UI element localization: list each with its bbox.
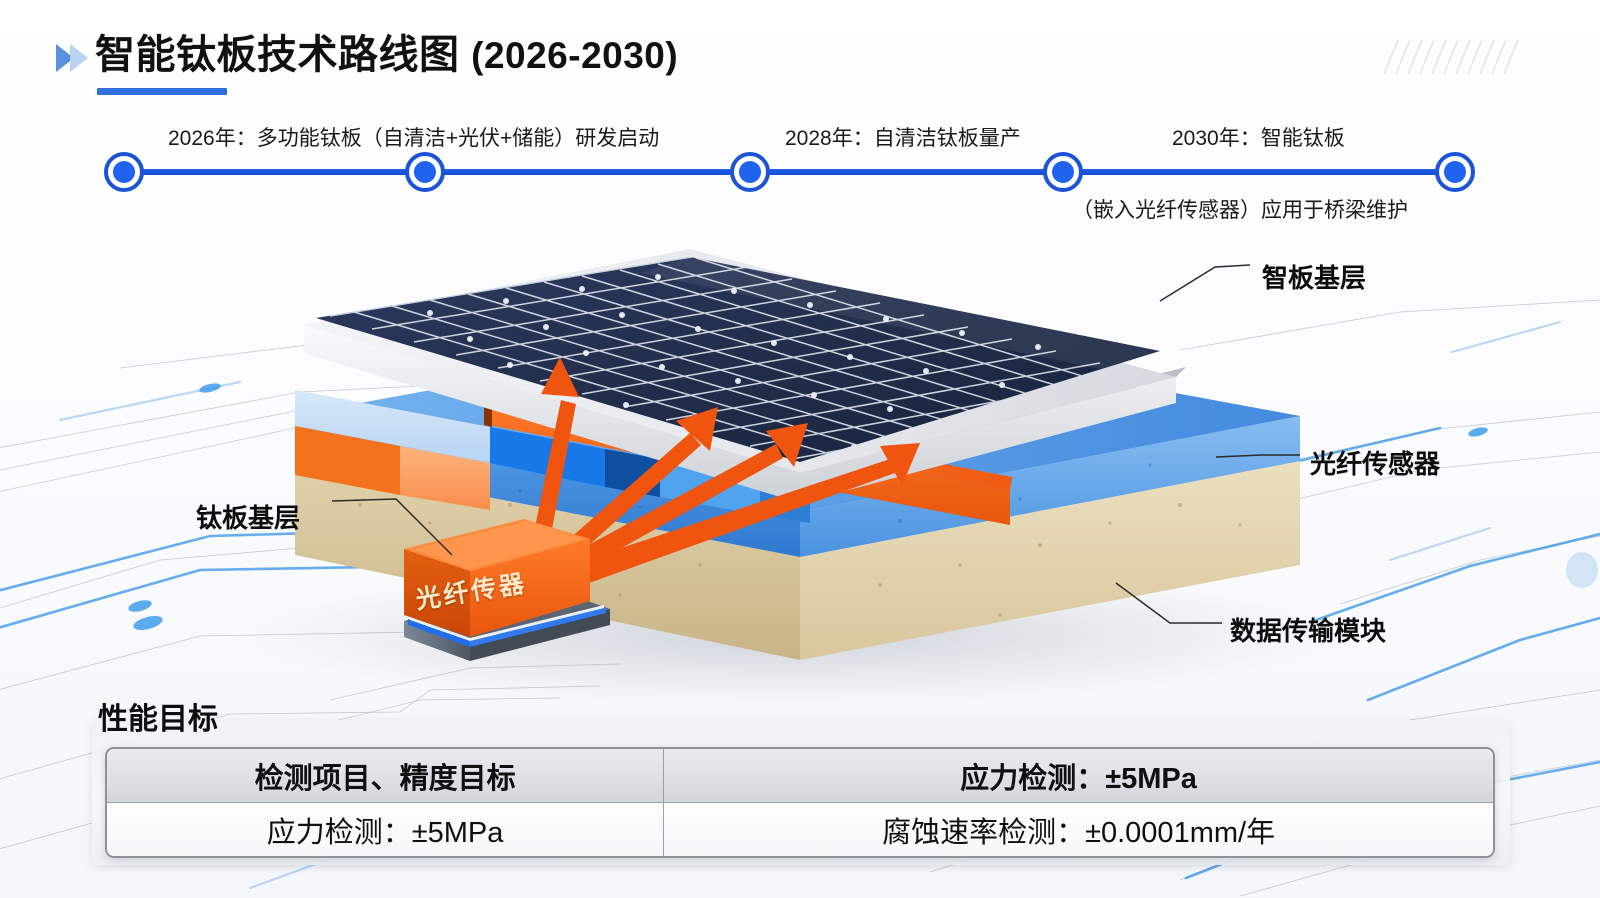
table-cell-0-1: 腐蚀速率检测：±0.0001mm/年 [664,803,1493,856]
timeline-label-2030-sub: （嵌入光纤传感器）应用于桥梁维护 [1072,194,1408,224]
callout-data-transfer-module: 数据传输模块 [1230,611,1386,648]
timeline-label-2030: 2030年：智能钛板 [1172,122,1345,152]
timeline-node-2[interactable] [405,152,445,192]
callout-fiber-optic-sensor: 光纤传感器 [1310,444,1440,481]
performance-table: 检测项目、精度目标 应力检测：±5MPa 应力检测：±5MPa 腐蚀速率检测：±… [105,747,1495,858]
timeline-node-1[interactable] [104,152,144,192]
page-title-main: 智能钛板技术路线图 [95,33,460,77]
performance-section-title: 性能目标 [98,694,218,738]
timeline-axis-line [124,169,1456,175]
table-header-cell-1: 应力检测：±5MPa [664,749,1493,803]
timeline-label-2028: 2028年：自清洁钛板量产 [785,122,1021,152]
table-cell-0-0: 应力检测：±5MPa [107,803,664,856]
timeline-node-3[interactable] [730,152,770,192]
title-underline [97,88,227,95]
roadmap-timeline: 2026年：多功能钛板（自清洁+光伏+储能）研发启动 2028年：自清洁钛板量产… [0,112,1600,222]
timeline-label-2026: 2026年：多功能钛板（自清洁+光伏+储能）研发启动 [168,122,659,152]
callout-smart-plate-base: 智板基层 [1262,258,1366,295]
page-title: 智能钛板技术路线图 (2026-2030) [95,22,678,80]
page-title-years: (2026-2030) [471,35,678,76]
callout-titanium-plate-base: 钛板基层 [196,498,300,535]
timeline-node-4[interactable] [1043,152,1083,192]
timeline-node-5[interactable] [1435,152,1475,192]
table-row: 应力检测：±5MPa 腐蚀速率检测：±0.0001mm/年 [107,803,1493,856]
table-header-cell-0: 检测项目、精度目标 [107,749,664,803]
table-header-row: 检测项目、精度目标 应力检测：±5MPa [107,749,1493,803]
slide-header: 智能钛板技术路线图 (2026-2030) [0,0,1600,112]
slide-canvas: 智能钛板技术路线图 (2026-2030) 2026年：多功能钛板（自清洁+光伏… [0,0,1600,898]
double-chevron-right-icon [52,38,92,78]
